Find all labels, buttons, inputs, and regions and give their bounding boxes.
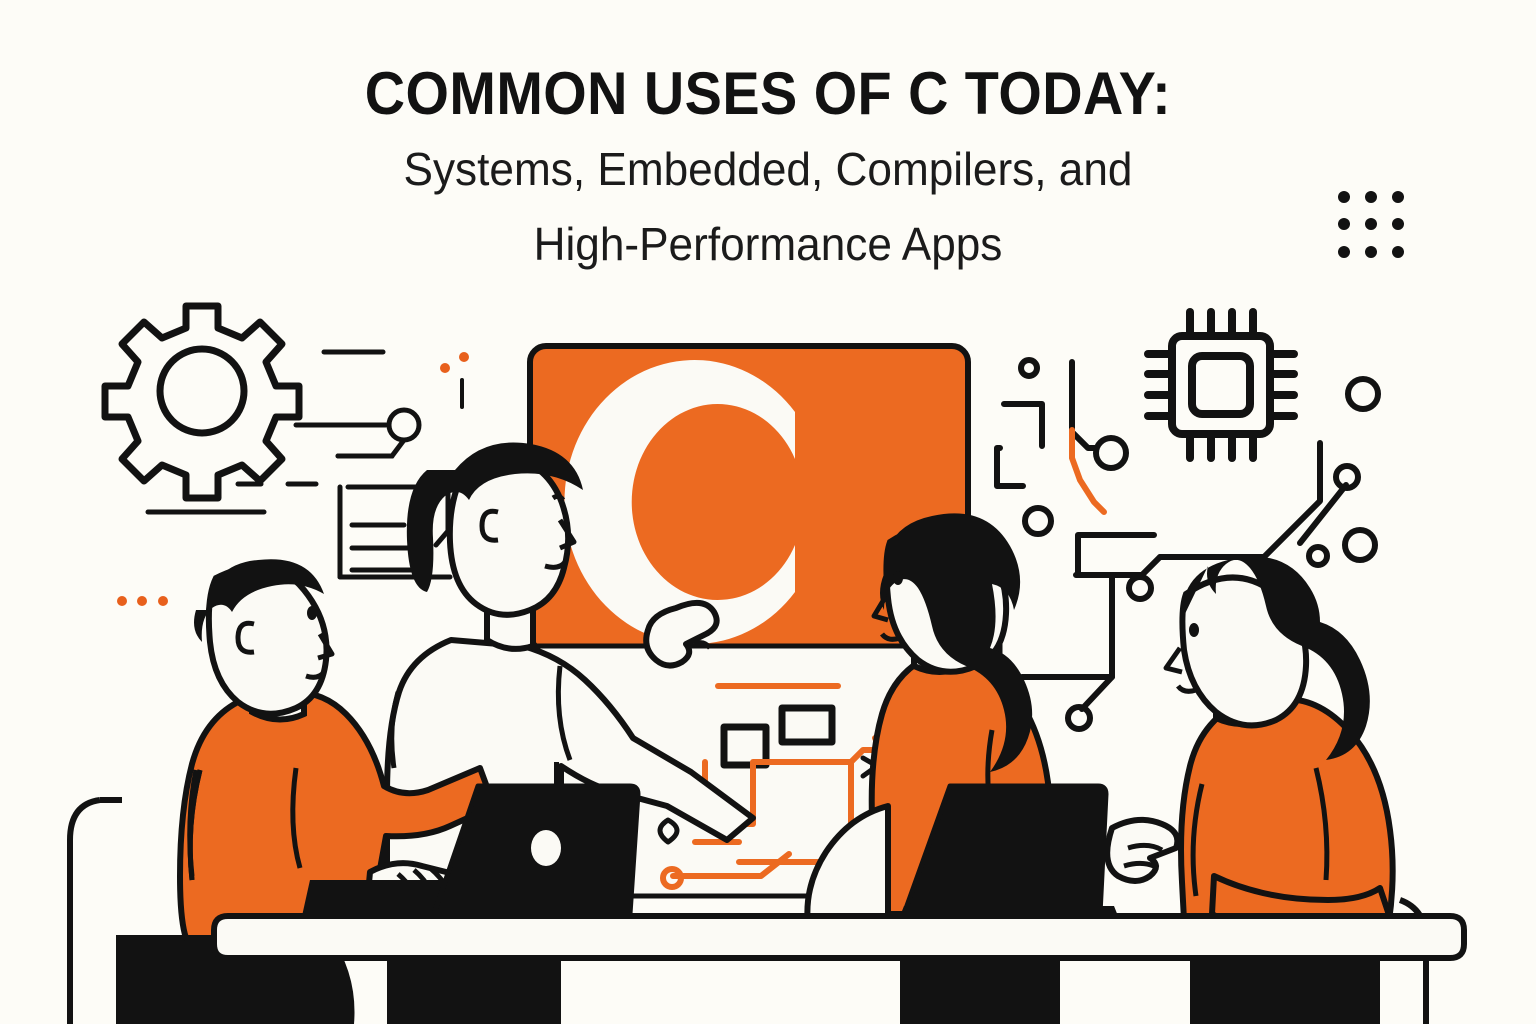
illustration-canvas: COMMON USES OF C TODAY: Systems, Embedde… — [0, 0, 1536, 1024]
orange-dots-left — [117, 596, 168, 606]
scene-artwork — [0, 0, 1536, 1024]
dot-grid — [1338, 191, 1404, 258]
conference-table — [214, 916, 1464, 958]
